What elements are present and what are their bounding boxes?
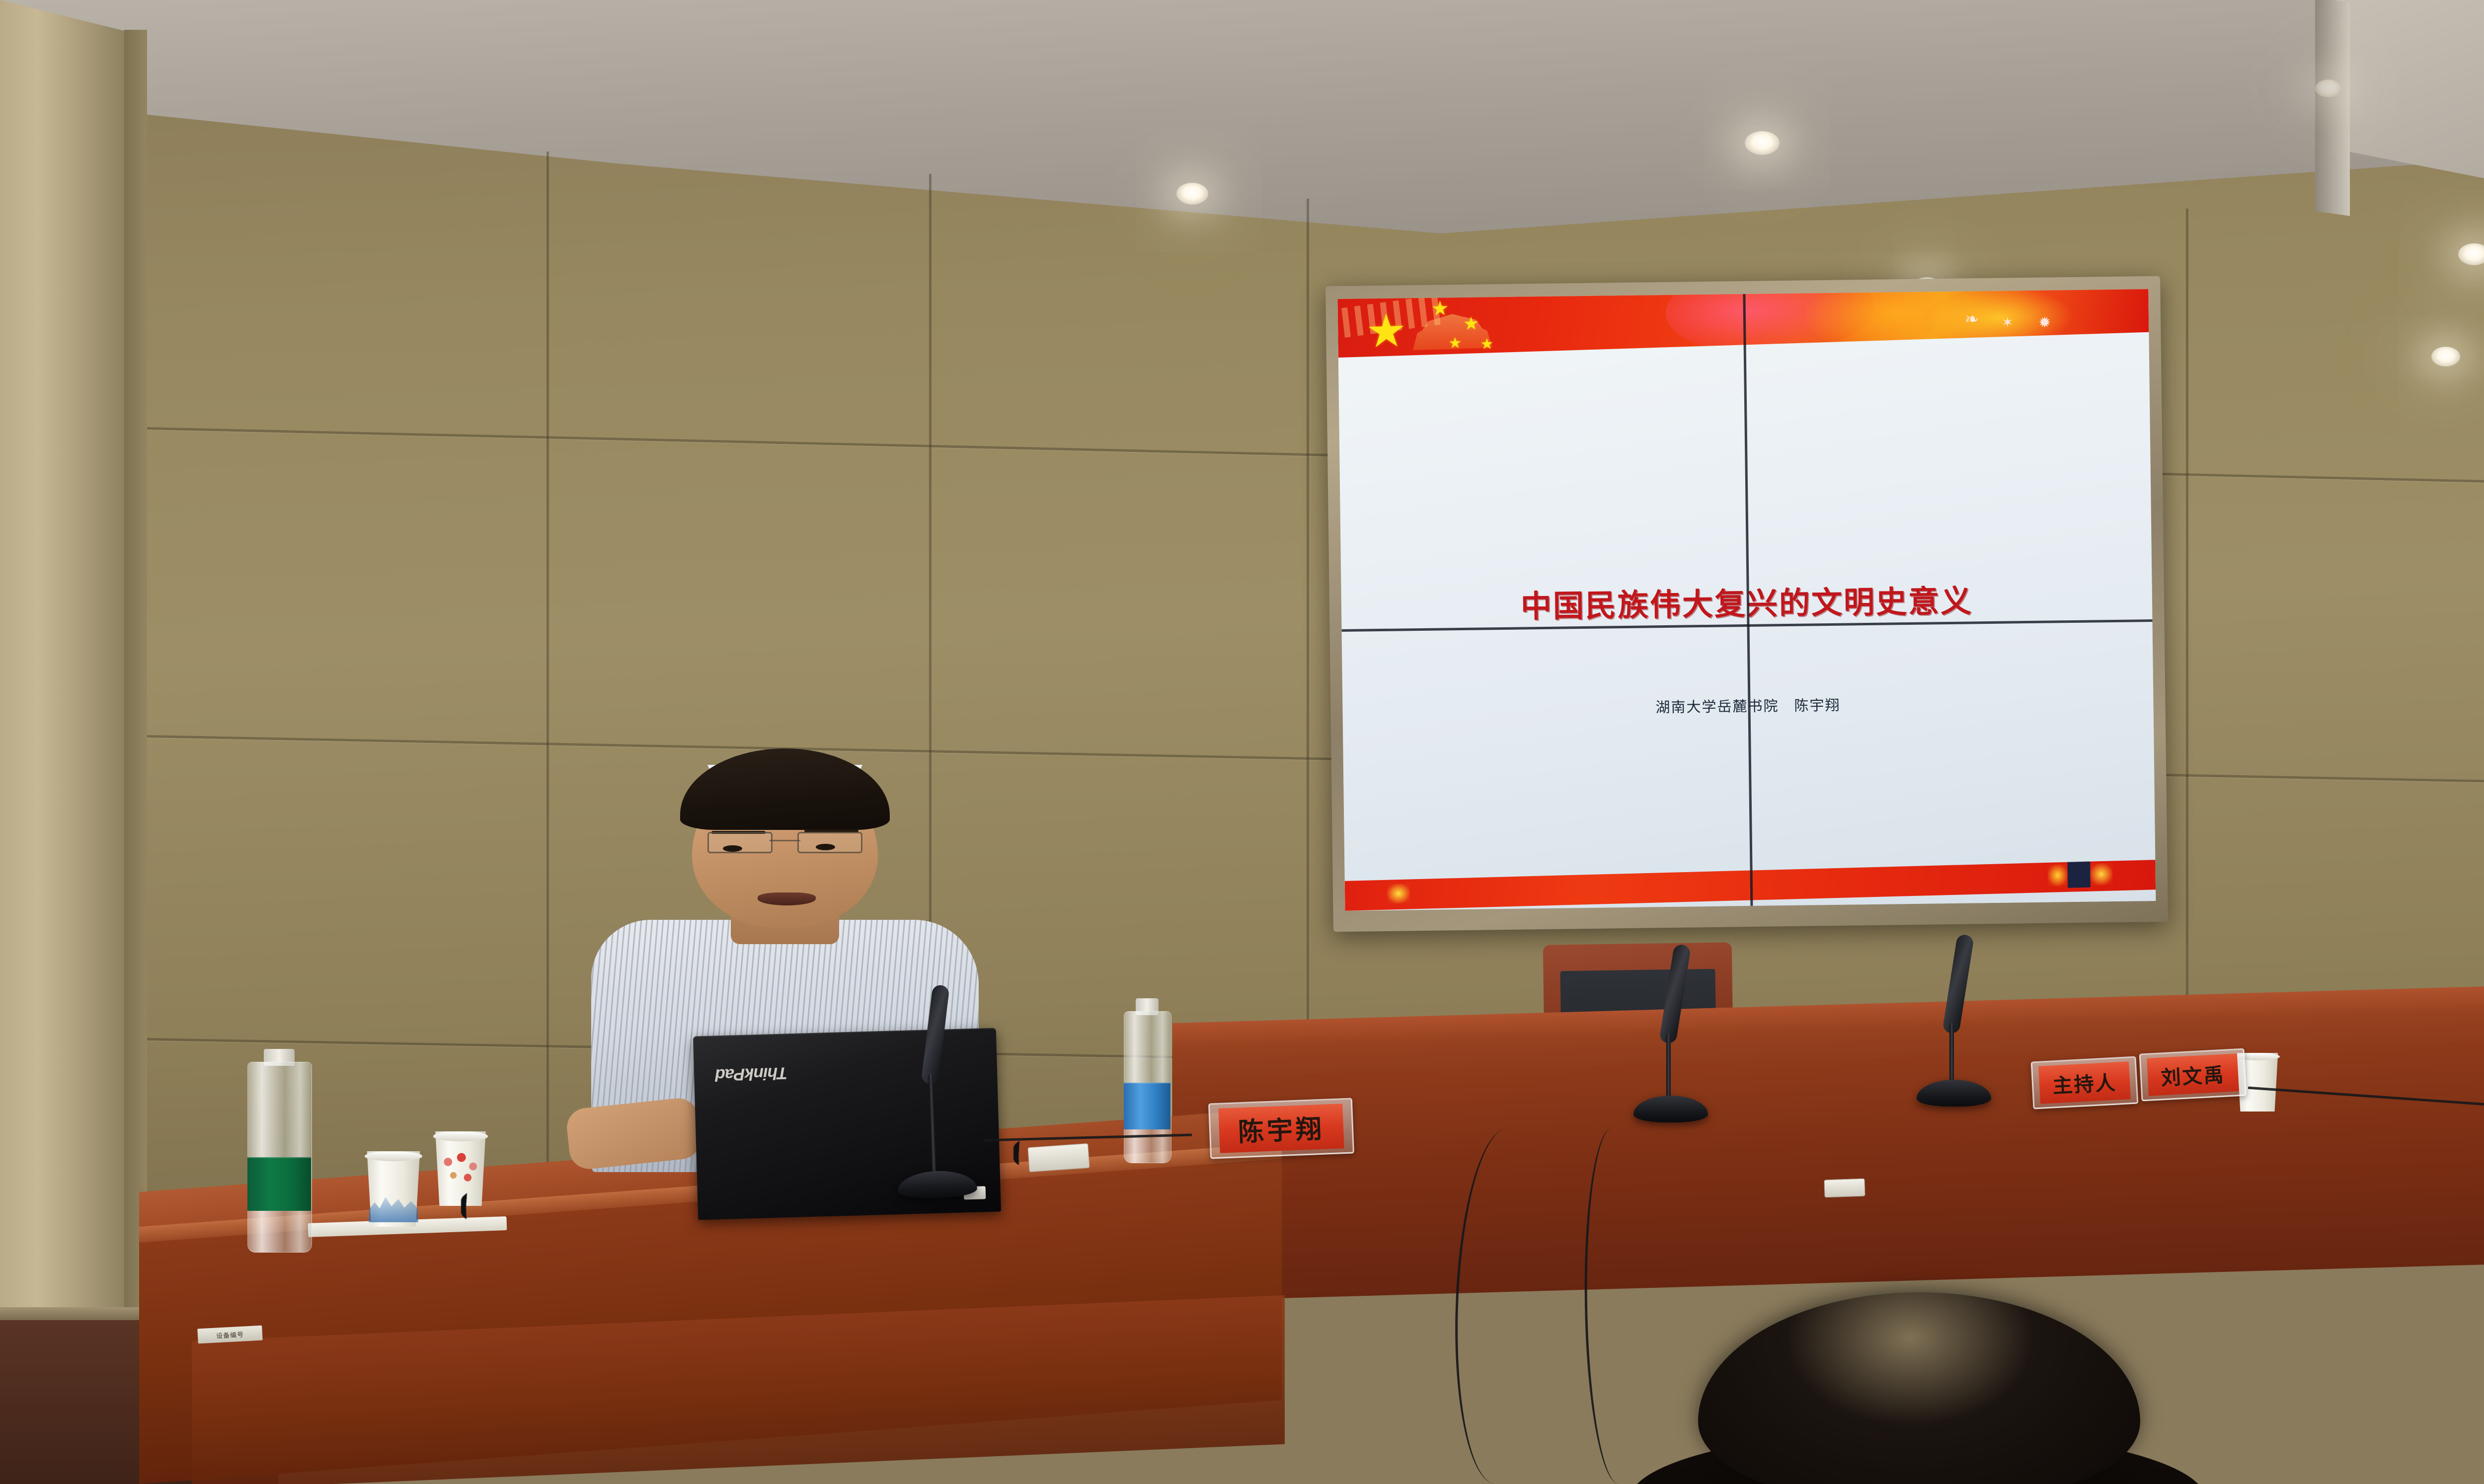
microphone-base [1633,1096,1708,1122]
guest-placard[interactable]: 刘文禹 [2139,1048,2247,1102]
dove-icon-3: ✹ [2038,315,2051,331]
footer-dark-block [2067,862,2091,888]
placard-text: 刘文禹 [2160,1059,2226,1091]
right-microphone[interactable] [1917,934,1991,1107]
thinkpad-logo: ThinkPad [715,1063,787,1085]
cup-rim [365,1151,423,1161]
placard-card: 主持人 [2038,1061,2131,1104]
flag-star-big: ★ [1366,308,1407,355]
flag-star-1: ★ [1431,298,1449,319]
center-microphone[interactable] [1633,944,1708,1122]
power-adapter [1824,1179,1865,1198]
wall-seam-v1 [546,151,549,1194]
downlight-5 [2431,347,2460,367]
flag-star-4: ★ [1480,337,1493,352]
dove-icon-1: ❧ [1965,310,1979,328]
speaker-placard[interactable]: 陈宇翔 [1208,1098,1354,1159]
ribbon-swoosh-gold [1924,289,2073,350]
wall-pilaster-left-edge [124,30,147,1371]
bottle-label [247,1157,311,1211]
lecture-hall-photo: ★ ★ ★ ★ ★ ❧ ✶ ✹ 中国民族伟大复兴的文明史意义 湖南大学岳麓书院 … [0,0,2484,1484]
bottle-label [1124,1083,1170,1129]
footer-glow-right-1 [2047,864,2068,887]
placard-text: 陈宇翔 [1238,1108,1325,1149]
audience-head [1698,1292,2140,1484]
cable-bundle-left [461,1179,690,1234]
downlight-6 [2315,79,2341,97]
microphone-neck [1949,1023,1954,1087]
microphone-neck [1666,1033,1671,1103]
speaker-microphone[interactable] [891,983,978,1199]
head-table-front [1172,1037,2484,1301]
glasses-lens-right [797,832,862,853]
downlight-2 [1745,131,1780,155]
video-wall-display[interactable]: ★ ★ ★ ★ ★ ❧ ✶ ✹ 中国民族伟大复兴的文明史意义 湖南大学岳麓书院 … [1337,289,2156,911]
downlight-1 [1176,183,1208,205]
host-placard[interactable]: 主持人 [2031,1056,2139,1110]
dove-icon-2: ✶ [2002,315,2014,330]
footer-glow-left [1387,883,1410,903]
microphone-base [1917,1080,1991,1107]
microphone-head [1659,944,1691,1044]
ceiling-soffit [2315,0,2350,216]
footer-glow-right-2 [2090,863,2113,885]
placard-card: 陈宇翔 [1219,1104,1344,1153]
flag-star-3: ★ [1448,336,1462,351]
head-table [1172,1023,2484,1301]
speaker-mouth [758,892,816,905]
cable-run-left [983,1134,1193,1172]
glasses-bridge [770,840,800,841]
presentation-slide: ★ ★ ★ ★ ★ ❧ ✶ ✹ 中国民族伟大复兴的文明史意义 湖南大学岳麓书院 … [1337,289,2156,911]
placard-text: 主持人 [2052,1067,2117,1099]
wall-pilaster-left [0,0,124,1371]
microphone-head [921,984,950,1085]
placard-card: 刘文禹 [2147,1053,2239,1096]
flag-star-2: ★ [1463,314,1479,333]
wall-seam-v4 [2186,209,2188,1043]
microphone-neck [929,1074,936,1178]
video-wall-frame: ★ ★ ★ ★ ★ ❧ ✶ ✹ 中国民族伟大复兴的文明史意义 湖南大学岳麓书院 … [1325,276,2168,932]
microphone-base [897,1170,978,1199]
microphone-head [1942,934,1974,1035]
paper-cup-blue[interactable] [363,1151,424,1227]
cup-artwork-red [438,1151,483,1188]
cup-rim [433,1131,488,1141]
water-bottle-left[interactable] [247,1049,311,1252]
